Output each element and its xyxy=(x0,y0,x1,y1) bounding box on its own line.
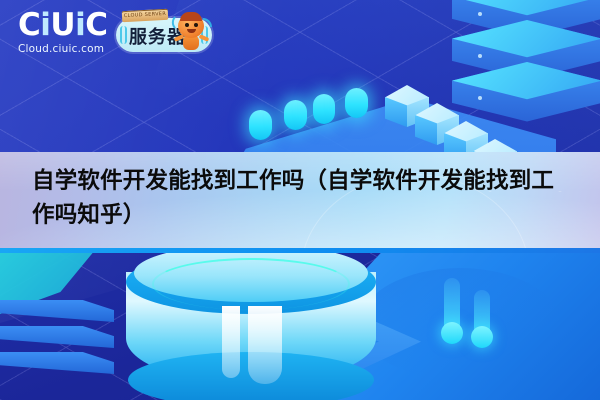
server-rack xyxy=(452,0,600,148)
brand-letter-c2: C xyxy=(85,7,107,43)
promo-banner: 自学软件开发能找到工作吗（自学软件开发能找到工作吗知乎） CiUiC Cloud… xyxy=(0,0,600,400)
badge-bracket-left-icon xyxy=(120,26,127,44)
rack-status-dot xyxy=(478,96,482,100)
db-highlight-1 xyxy=(222,306,240,378)
glow-bar-1 xyxy=(252,22,269,140)
glow-bar-cap xyxy=(313,94,335,124)
brand-letter-i2: i xyxy=(75,7,85,43)
pin-2 xyxy=(474,290,490,342)
mascot-eye-right xyxy=(194,23,198,27)
rack-status-dot xyxy=(478,54,482,58)
brand-letter-i1: i xyxy=(40,7,50,43)
brand-logo[interactable]: CiUiC Cloud.ciuic.com xyxy=(18,8,126,60)
glow-bar-cap xyxy=(249,110,272,140)
ledge-step xyxy=(0,352,114,374)
band-rule xyxy=(0,248,600,253)
mascot-icon xyxy=(174,12,208,52)
database-cylinder xyxy=(126,244,376,400)
pin-1 xyxy=(444,278,460,338)
pin-cap xyxy=(471,326,493,348)
brand-letter-u: U xyxy=(50,7,75,43)
glow-bar-cap xyxy=(345,88,368,118)
glow-bar-cap xyxy=(284,100,307,130)
brand-letter-c1: C xyxy=(18,7,40,43)
db-arc-line xyxy=(152,258,350,310)
db-highlight-2 xyxy=(248,306,282,384)
page-title: 自学软件开发能找到工作吗（自学软件开发能找到工作吗知乎） xyxy=(32,164,576,232)
mascot-arm-right xyxy=(199,34,210,42)
rack-status-dot xyxy=(478,12,482,16)
brand-wordmark: CiUiC xyxy=(18,8,126,42)
ledge-step xyxy=(0,300,114,322)
glow-bar-3 xyxy=(316,40,332,124)
stepped-ledge-left xyxy=(0,300,114,396)
glow-bar-2 xyxy=(287,30,304,130)
ledge-step xyxy=(0,326,114,348)
glow-bar-4 xyxy=(348,14,365,118)
mascot-eye-left xyxy=(185,23,189,27)
rack-slab-3 xyxy=(452,62,600,124)
brand-domain: Cloud.ciuic.com xyxy=(18,43,126,55)
pin-cap xyxy=(441,322,463,344)
platform-swoosh xyxy=(360,268,560,380)
mascot-hair xyxy=(180,12,202,21)
